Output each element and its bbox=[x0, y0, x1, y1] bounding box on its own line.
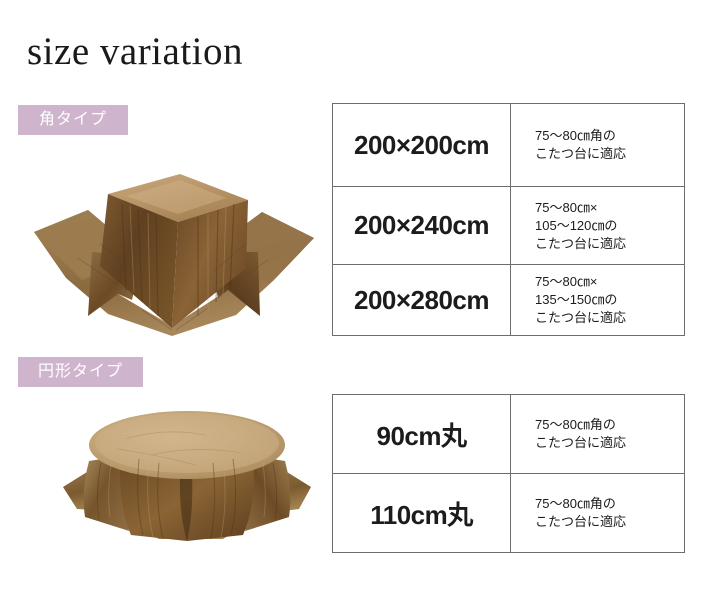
size-cell: 200×280cm bbox=[333, 265, 511, 336]
table-row: 90cm丸 75～80㎝角の こたつ台に適応 bbox=[333, 395, 685, 474]
description-value: 75～80㎝× 105～120㎝の こたつ台に適応 bbox=[535, 200, 626, 251]
size-value: 200×280cm bbox=[354, 285, 489, 315]
round-kotatsu-blanket-photo bbox=[55, 383, 320, 553]
description-value: 75～80㎝角の こたつ台に適応 bbox=[535, 128, 626, 161]
size-cell: 90cm丸 bbox=[333, 395, 511, 474]
square-kotatsu-blanket-photo bbox=[22, 140, 322, 340]
category-tag-square-label: 角タイプ bbox=[39, 112, 107, 128]
size-table-round: 90cm丸 75～80㎝角の こたつ台に適応 110cm丸 75～80㎝角の こ… bbox=[332, 394, 685, 553]
description-cell: 75～80㎝× 105～120㎝の こたつ台に適応 bbox=[511, 187, 685, 265]
category-tag-round-label: 円形タイプ bbox=[38, 364, 123, 380]
square-kotatsu-illustration bbox=[22, 140, 322, 340]
size-cell: 200×200cm bbox=[333, 104, 511, 187]
round-kotatsu-illustration bbox=[55, 383, 320, 553]
table-row: 110cm丸 75～80㎝角の こたつ台に適応 bbox=[333, 474, 685, 553]
size-cell: 110cm丸 bbox=[333, 474, 511, 553]
description-cell: 75～80㎝角の こたつ台に適応 bbox=[511, 474, 685, 553]
size-table-square: 200×200cm 75～80㎝角の こたつ台に適応 200×240cm 75～… bbox=[332, 103, 685, 336]
table-row: 200×200cm 75～80㎝角の こたつ台に適応 bbox=[333, 104, 685, 187]
page-title: size variation bbox=[27, 32, 243, 71]
description-cell: 75～80㎝角の こたつ台に適応 bbox=[511, 395, 685, 474]
description-value: 75～80㎝角の こたつ台に適応 bbox=[535, 496, 626, 529]
size-value: 200×240cm bbox=[354, 210, 489, 240]
description-value: 75～80㎝角の こたつ台に適応 bbox=[535, 417, 626, 450]
description-value: 75～80㎝× 135～150㎝の こたつ台に適応 bbox=[535, 274, 626, 325]
table-row: 200×240cm 75～80㎝× 105～120㎝の こたつ台に適応 bbox=[333, 187, 685, 265]
size-value: 200×200cm bbox=[354, 130, 489, 160]
size-cell: 200×240cm bbox=[333, 187, 511, 265]
category-tag-square: 角タイプ bbox=[18, 105, 128, 135]
size-value: 90cm丸 bbox=[377, 421, 467, 451]
description-cell: 75～80㎝× 135～150㎝の こたつ台に適応 bbox=[511, 265, 685, 336]
description-cell: 75～80㎝角の こたつ台に適応 bbox=[511, 104, 685, 187]
table-row: 200×280cm 75～80㎝× 135～150㎝の こたつ台に適応 bbox=[333, 265, 685, 336]
size-value: 110cm丸 bbox=[370, 500, 473, 530]
